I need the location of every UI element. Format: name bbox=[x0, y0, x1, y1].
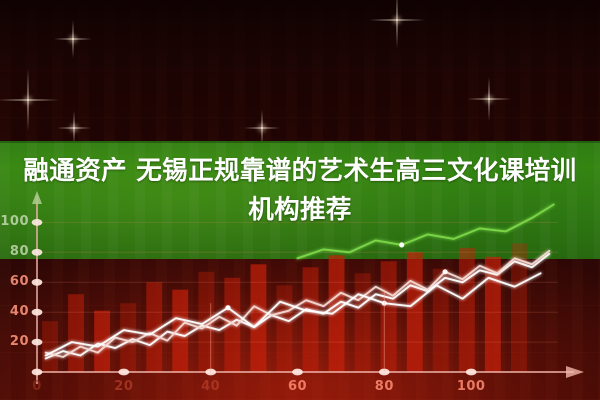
chart-vertex-dot bbox=[225, 305, 230, 310]
chart-bar bbox=[277, 285, 293, 372]
chart-bar bbox=[172, 290, 188, 372]
title-line-2: 机构推荐 bbox=[14, 191, 586, 230]
tick-marker bbox=[466, 369, 477, 376]
chart-bar bbox=[303, 267, 319, 372]
title-line-1: 融通资产 无锡正规靠谱的艺术生高三文化课培训 bbox=[14, 152, 586, 191]
chart-vertex-dot bbox=[443, 269, 448, 274]
chart-bar bbox=[381, 261, 397, 372]
chart-bar bbox=[120, 303, 136, 372]
tick-marker bbox=[118, 369, 129, 376]
tick-marker bbox=[32, 369, 43, 376]
chart-bar bbox=[42, 321, 58, 372]
chart-bars bbox=[42, 243, 527, 372]
chart-bar bbox=[68, 294, 84, 372]
tick-marker bbox=[32, 279, 43, 286]
chart-vertex-dot bbox=[399, 242, 404, 247]
tick-marker bbox=[32, 309, 43, 316]
title-band-top-edge bbox=[0, 141, 600, 143]
chart-bar bbox=[146, 282, 162, 372]
tick-marker bbox=[32, 249, 43, 256]
banner-title: 融通资产 无锡正规靠谱的艺术生高三文化课培训 机构推荐 bbox=[0, 152, 600, 230]
x-axis-arrow-icon bbox=[566, 366, 584, 378]
tick-marker bbox=[292, 369, 303, 376]
chart-bar bbox=[459, 248, 475, 372]
chart-gridlines bbox=[37, 222, 558, 342]
tick-marker bbox=[32, 339, 43, 346]
banner-image: 20406080100020406080100 融通资产 无锡正规靠谱的艺术生高… bbox=[0, 0, 600, 400]
chart-bar bbox=[355, 273, 371, 372]
